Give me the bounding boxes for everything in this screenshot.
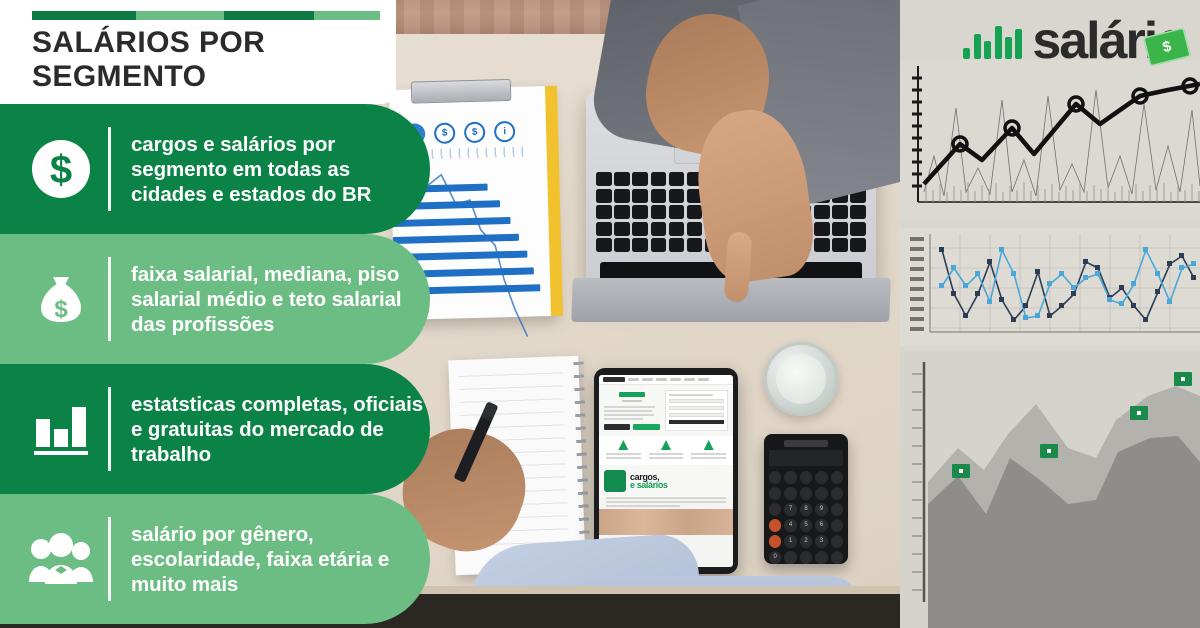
accent-bar [32,11,380,20]
tablet-article-badge-icon [604,470,626,492]
brand-logo[interactable]: salário $ [963,18,1186,64]
leaf-icon [618,440,628,450]
tablet-primary-button [633,424,659,430]
divider [108,387,111,471]
drop-icon [661,440,671,450]
feature-text: cargos e salários por segmento em todas … [111,132,430,207]
tablet-hero-sub [622,400,642,402]
money-bag-icon: $ [14,269,108,329]
tablet-hero [599,385,733,436]
calculator-keypad: 789 456 123 0 [769,471,843,564]
bill-dollar-symbol: $ [1161,38,1173,57]
tablet-secondary-button [604,424,630,430]
divider [108,517,111,601]
feature-row-cargos-salarios[interactable]: $ cargos e salários por segmento em toda… [0,104,430,234]
tablet-article-block: cargos, e salários [599,465,733,497]
stat-circle-icon: i [494,121,516,143]
feature-row-genero-escolaridade[interactable]: salário por gênero, escolaridade, faixa … [0,494,430,624]
feature-text: estatsticas completas, oficiais e gratui… [111,392,430,467]
calculator-solar-panel [784,440,828,447]
tablet-footer-image [599,509,733,535]
svg-text:$: $ [50,148,72,192]
svg-text:$: $ [54,296,68,323]
tablet-hero-title [619,392,645,397]
people-group-icon [14,532,108,586]
index-finger [724,231,753,303]
calculator: 789 456 123 0 [764,434,848,564]
feature-row-faixa-salarial[interactable]: $ faixa salarial, mediana, piso salarial… [0,234,430,364]
tablet-search-form [665,390,729,431]
dollar-coin-icon: $ [14,139,108,199]
tablet-feature-cards [599,436,733,465]
title-card: SALÁRIOS POR SEGMENTO [0,0,396,104]
calculator-display [769,450,843,466]
trend-up-line-chart [900,60,1200,220]
feature-text: faixa salarial, mediana, piso salarial m… [111,262,430,337]
equalizer-bars-icon [963,23,1022,59]
poster-canvas: $ $ $ i [0,0,1200,628]
clipboard-clamp-icon [411,79,512,104]
feature-row-estatisticas[interactable]: estatsticas completas, oficiais e gratui… [0,364,430,494]
page-title: SALÁRIOS POR SEGMENTO [32,26,396,94]
feature-list: $ cargos e salários por segmento em toda… [0,104,470,624]
charts-panel [900,0,1200,628]
water-glass [764,342,838,416]
tablet-headline-2: e salários [630,480,668,490]
tablet-site-logo [603,377,625,382]
chart-icon [704,440,714,450]
divider [108,257,111,341]
divider [108,127,111,211]
stacked-area-chart [900,352,1200,628]
tablet-navbar [599,375,733,385]
bar-chart-icon [14,401,108,457]
feature-text: salário por gênero, escolaridade, faixa … [111,522,430,597]
dual-series-line-chart [900,228,1200,346]
